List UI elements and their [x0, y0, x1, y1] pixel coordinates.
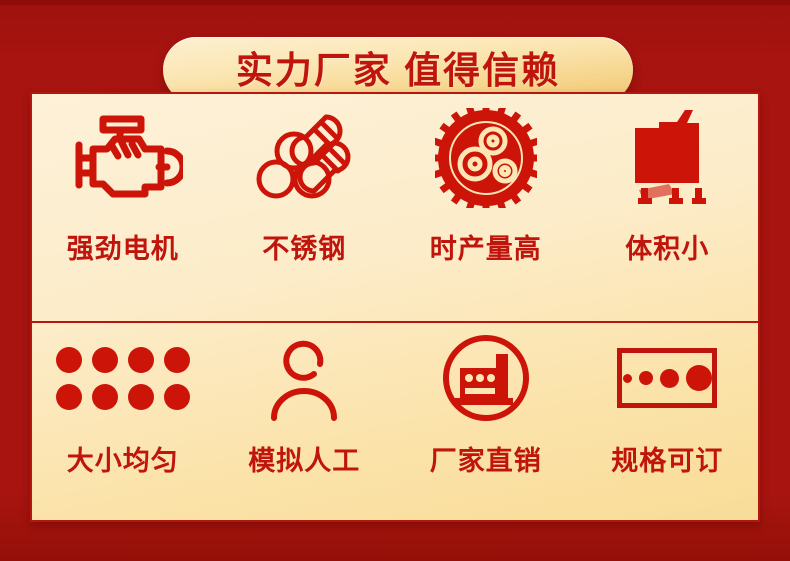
gears-icon-box — [435, 102, 537, 214]
page-title: 实力厂家 值得信赖 — [236, 52, 560, 89]
feature-item-uniform-size[interactable]: 大小均匀 — [32, 328, 214, 522]
feature-label-uniform-size: 大小均匀 — [67, 448, 179, 475]
uniform-dots-icon-box — [56, 328, 190, 428]
steel-pipes-icon-box — [254, 102, 354, 214]
factory-circle-icon-box — [440, 328, 532, 428]
uniform-dots-icon — [56, 347, 190, 410]
feature-item-manual-simulation[interactable]: 模拟人工 — [214, 328, 396, 522]
spec-sizes-icon — [617, 348, 717, 408]
feature-label-custom-spec: 规格可订 — [611, 448, 723, 475]
feature-item-engine[interactable]: 强劲电机 — [32, 102, 214, 319]
feature-label-factory-direct: 厂家直销 — [430, 448, 542, 475]
feature-item-stainless-steel[interactable]: 不锈钢 — [214, 102, 396, 319]
feature-row-2: 大小均匀 模拟人工 — [32, 328, 758, 522]
top-accent-strip — [0, 0, 790, 5]
person-icon — [264, 334, 344, 422]
person-icon-box — [264, 328, 344, 428]
compact-machine-icon-box — [617, 102, 717, 214]
gears-icon — [435, 108, 537, 208]
feature-item-custom-spec[interactable]: 规格可订 — [577, 328, 759, 522]
compact-machine-icon — [617, 108, 717, 208]
feature-item-factory-direct[interactable]: 厂家直销 — [395, 328, 577, 522]
feature-label-manual-simulation: 模拟人工 — [248, 448, 360, 475]
feature-label-engine: 强劲电机 — [67, 236, 179, 263]
promo-banner-root: 实力厂家 值得信赖 — [0, 0, 790, 561]
feature-label-stainless-steel: 不锈钢 — [262, 236, 346, 263]
engine-icon-box — [63, 102, 183, 214]
factory-circle-icon — [440, 332, 532, 424]
feature-label-output: 时产量高 — [430, 236, 542, 263]
feature-label-compact: 体积小 — [625, 236, 709, 263]
spec-sizes-icon-box — [617, 328, 717, 428]
steel-pipes-icon — [254, 111, 354, 206]
feature-row-1: 强劲电机 — [32, 102, 758, 319]
engine-icon — [63, 111, 183, 206]
features-panel: 强劲电机 — [30, 92, 760, 522]
feature-item-compact[interactable]: 体积小 — [577, 102, 759, 319]
feature-item-output[interactable]: 时产量高 — [395, 102, 577, 319]
row-divider — [32, 321, 758, 323]
